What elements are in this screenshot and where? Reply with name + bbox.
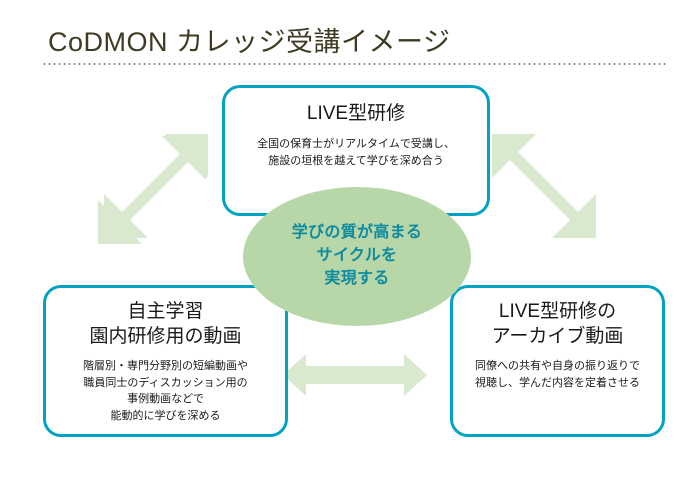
node-title-archive: LIVE型研修の アーカイブ動画 <box>492 299 624 349</box>
arrow-self-study-to-live <box>98 134 208 244</box>
diagram-canvas: CoDMON カレッジ受講イメージ LIVE型研修 全国の保育士がリアルタイムで… <box>0 0 700 495</box>
center-circle-line-3: 実現する <box>324 268 389 291</box>
node-description-self-study: 階層別・専門分野別の短編動画や 職員同士のディスカッション用の 事例動画などで … <box>83 358 248 424</box>
node-box-self-study[interactable]: 自主学習 園内研修用の動画 階層別・専門分野別の短編動画や 職員同士のディスカッ… <box>43 285 288 437</box>
node-description-live: 全国の保育士がリアルタイムで受講し、 施設の垣根を越えて学びを深め合う <box>257 136 455 169</box>
node-title-live: LIVE型研修 <box>307 101 405 126</box>
arrow-live-to-archive <box>492 134 596 238</box>
center-circle-line-1: 学びの質が高まる <box>292 222 422 245</box>
node-description-archive: 同僚への共有や自身の振り返りで 視聴し、学んだ内容を定着させる <box>475 358 640 391</box>
arrow-self-study-to-archive <box>283 354 427 396</box>
node-box-archive[interactable]: LIVE型研修の アーカイブ動画 同僚への共有や自身の振り返りで 視聴し、学んだ… <box>450 285 665 437</box>
center-circle-line-2: サイクルを <box>317 245 398 268</box>
node-title-self-study: 自主学習 園内研修用の動画 <box>89 299 241 349</box>
center-circle: 学びの質が高まる サイクルを 実現する <box>243 187 471 326</box>
